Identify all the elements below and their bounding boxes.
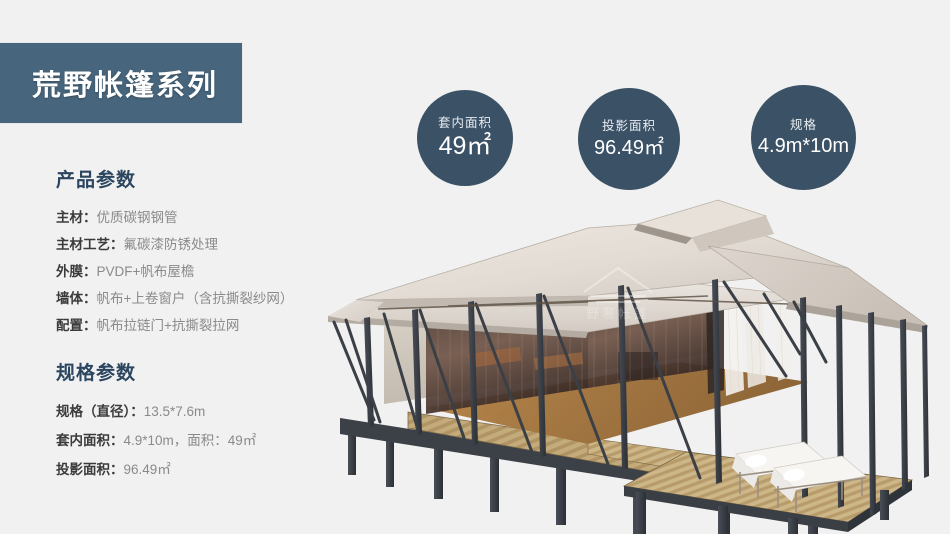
verandah-columns <box>364 279 929 516</box>
curtain-drapes <box>722 292 792 396</box>
param-label: 主材： <box>56 210 97 225</box>
param-label: 规格（直径）： <box>56 404 144 419</box>
stilt-structure-front <box>636 490 889 534</box>
badge-interior-area: 套内面积 49㎡ <box>417 90 513 186</box>
product-parameters-section: 产品参数 主材：优质碳钢钢管 主材工艺：氟碳漆防锈处理 外膜：PVDF+帆布屋檐… <box>56 165 356 339</box>
interior-floor <box>426 362 808 444</box>
badge-caption: 套内面积 <box>438 117 492 130</box>
interior-doorway <box>706 294 724 394</box>
list-item: 墙体：帆布+上卷窗户（含抗撕裂纱网） <box>56 285 356 312</box>
size-parameters-section: 规格参数 规格（直径）：13.5*7.6m 套内面积：4.9*10m，面积：49… <box>56 358 376 484</box>
list-item: 主材：优质碳钢钢管 <box>56 204 356 231</box>
watermark-label: 野奢帐篷 <box>586 306 650 321</box>
tent-render-image: 野奢帐篷 <box>288 176 950 534</box>
list-item: 套内面积：4.9*10m，面积：49㎡ <box>56 426 376 455</box>
page-title: 荒野帐篷系列 <box>32 62 218 104</box>
badge-value: 4.9m*10m <box>758 136 849 156</box>
deck-surface <box>408 412 912 532</box>
param-value: 优质碳钢钢管 <box>97 210 178 225</box>
param-label: 主材工艺： <box>56 237 124 252</box>
param-label: 套内面积： <box>56 433 124 448</box>
roof-main-canopy <box>356 200 848 308</box>
list-item: 投影面积：96.49㎡ <box>56 455 376 484</box>
param-value: 氟碳漆防锈处理 <box>124 237 219 252</box>
param-value: 13.5*7.6m <box>144 404 206 419</box>
roof-right-wing <box>708 246 928 333</box>
badge-caption: 投影面积 <box>602 120 656 133</box>
product-parameters-list: 主材：优质碳钢钢管 主材工艺：氟碳漆防锈处理 外膜：PVDF+帆布屋檐 墙体：帆… <box>56 204 356 339</box>
list-item: 外膜：PVDF+帆布屋檐 <box>56 258 356 285</box>
watermark: 野奢帐篷 <box>584 268 652 321</box>
badge-value: 96.49㎡ <box>594 138 664 158</box>
diagonal-braces <box>334 282 826 478</box>
badge-projected-area: 投影面积 96.49㎡ <box>578 88 680 190</box>
param-label: 外膜： <box>56 264 97 279</box>
tent-3d-illustration: 野奢帐篷 <box>288 176 950 534</box>
title-banner: 荒野帐篷系列 <box>0 42 243 124</box>
list-item: 主材工艺：氟碳漆防锈处理 <box>56 231 356 258</box>
wall-panels <box>384 286 718 404</box>
param-value: 96.49㎡ <box>124 462 171 477</box>
stilt-structure-rear <box>348 423 818 534</box>
glass-wall <box>426 291 718 414</box>
param-value: 帆布+上卷窗户（含抗撕裂纱网） <box>97 291 294 306</box>
roof-eave-front <box>328 272 808 338</box>
list-item: 规格（直径）：13.5*7.6m <box>56 397 376 426</box>
param-value: 4.9*10m，面积：49㎡ <box>124 433 257 448</box>
size-parameters-list: 规格（直径）：13.5*7.6m 套内面积：4.9*10m，面积：49㎡ 投影面… <box>56 397 376 484</box>
badge-caption: 规格 <box>790 119 817 132</box>
badge-value: 49㎡ <box>439 134 492 159</box>
roof-rafters <box>378 296 788 309</box>
param-label: 墙体： <box>56 291 97 306</box>
param-label: 投影面积： <box>56 462 124 477</box>
list-item: 配置：帆布拉链门+抗撕裂拉网 <box>56 312 356 339</box>
param-value: PVDF+帆布屋檐 <box>97 264 195 279</box>
deck-platform <box>340 374 950 514</box>
size-parameters-heading: 规格参数 <box>56 358 376 385</box>
product-parameters-heading: 产品参数 <box>56 165 356 192</box>
param-label: 配置： <box>56 318 97 333</box>
param-value: 帆布拉链门+抗撕裂拉网 <box>97 318 240 333</box>
badge-dimensions: 规格 4.9m*10m <box>751 85 856 190</box>
lounge-chairs <box>732 442 866 512</box>
product-spec-page: 荒野帐篷系列 产品参数 主材：优质碳钢钢管 主材工艺：氟碳漆防锈处理 外膜：PV… <box>0 0 950 534</box>
